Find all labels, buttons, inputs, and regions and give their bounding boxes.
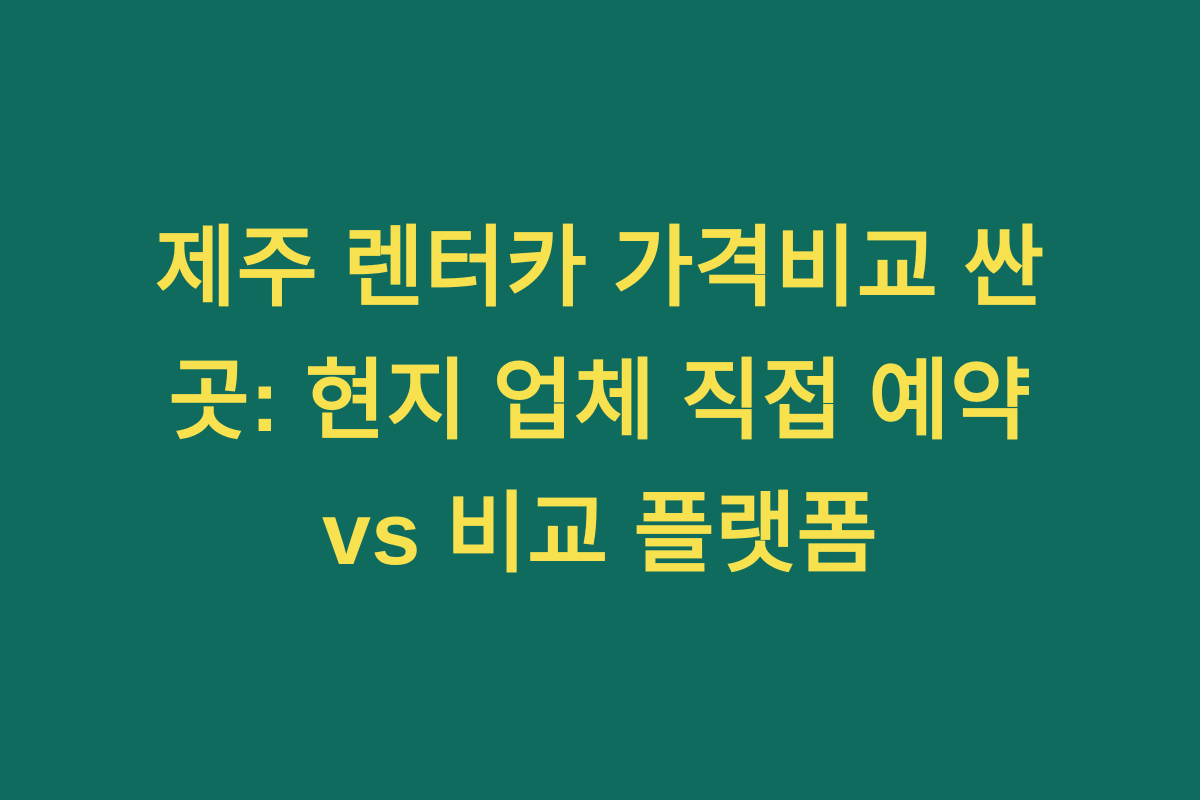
- headline-line-1: 제주 렌터카 가격비교 싼: [60, 201, 1140, 334]
- headline-line-3: vs 비교 플랫폼: [60, 467, 1140, 600]
- page-title: 제주 렌터카 가격비교 싼 곳: 현지 업체 직접 예약 vs 비교 플랫폼: [60, 201, 1140, 600]
- title-card: 제주 렌터카 가격비교 싼 곳: 현지 업체 직접 예약 vs 비교 플랫폼: [0, 0, 1200, 800]
- headline-line-2: 곳: 현지 업체 직접 예약: [60, 334, 1140, 467]
